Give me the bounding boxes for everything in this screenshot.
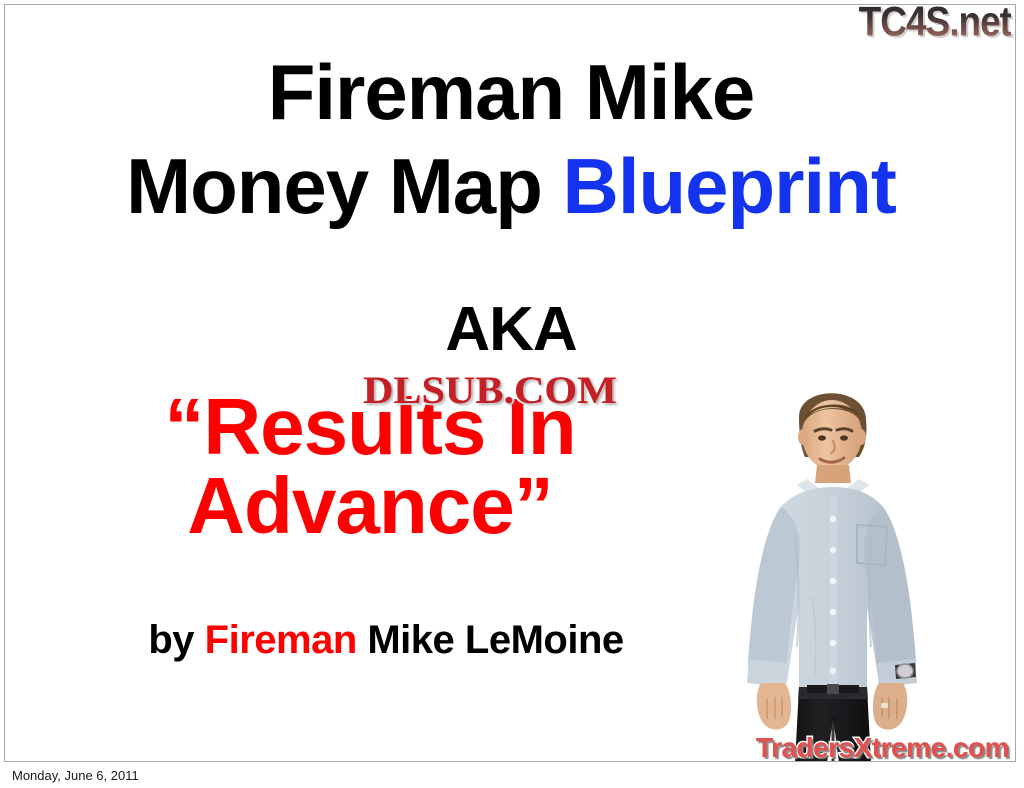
byline-suffix: Mike LeMoine xyxy=(357,618,624,662)
page-title-line-2-accent: Blueprint xyxy=(563,142,896,230)
presenter-photo xyxy=(735,387,1016,762)
slide-canvas: TC4S.net TC4S.net Fireman Mike Money Map… xyxy=(4,4,1016,762)
presenter-photo-graphic xyxy=(735,387,1016,762)
tagline-line-2: Advance” xyxy=(5,466,735,545)
page-title-line-2-plain: Money Map xyxy=(126,142,562,230)
byline-prefix: by xyxy=(148,618,204,662)
byline: by Fireman Mike LeMoine xyxy=(5,618,1016,663)
tradersxtreme-watermark-outline: TradersXtreme.com xyxy=(756,732,1009,762)
byline-accent: Fireman xyxy=(205,618,357,662)
footer-date: Monday, June 6, 2011 xyxy=(12,768,139,783)
page-title-line-2: Money Map Blueprint xyxy=(5,147,1016,225)
tc4s-net-logo: TC4S.net xyxy=(859,4,1011,42)
dlsub-watermark-outline: DLSUB.COM xyxy=(363,368,617,413)
aka-label: AKA xyxy=(5,299,1016,361)
page-title-line-1: Fireman Mike xyxy=(5,53,1016,131)
